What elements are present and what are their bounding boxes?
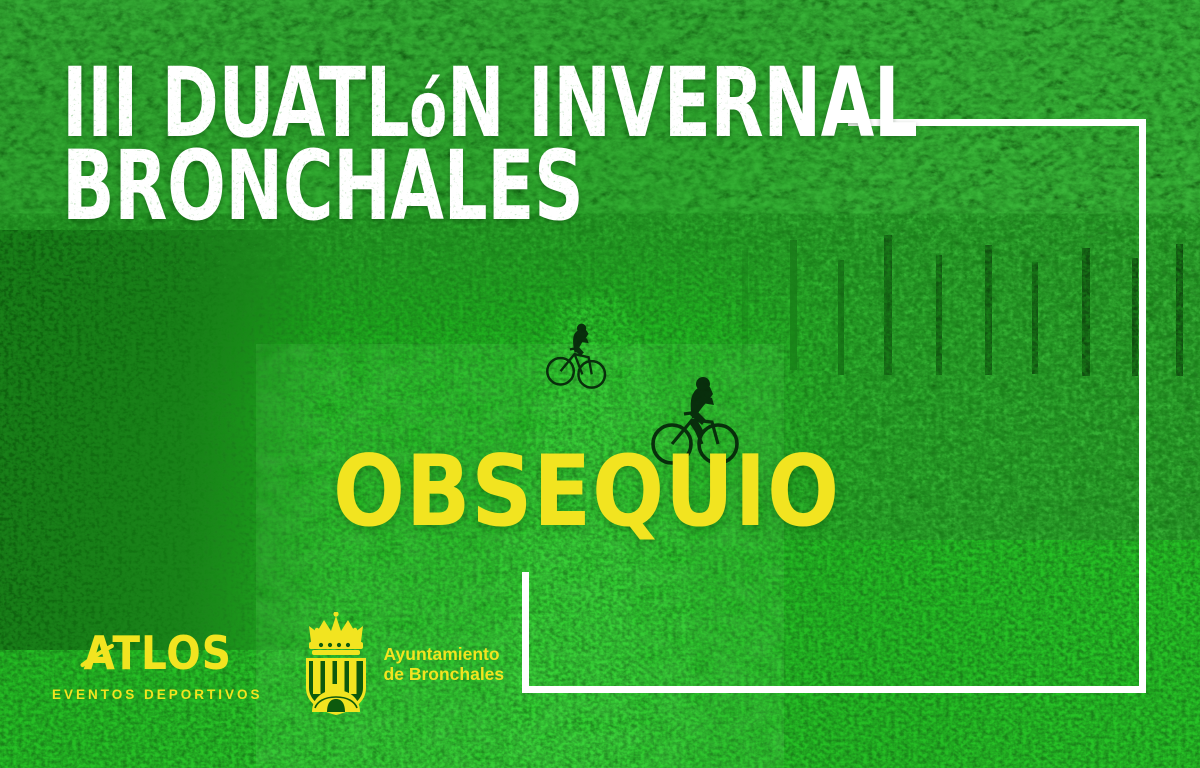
atlos-tagline: EVENTOS DEPORTIVOS [52,687,263,702]
atlos-wordmark-container: ATLOS [83,630,231,676]
coat-of-arms-icon [297,612,375,716]
atlos-logo: ATLOS EVENTOS DEPORTIVOS [52,608,263,702]
ayuntamiento-line-2: de Bronchales [384,664,505,684]
atlos-swoosh-icon [80,639,113,669]
ayuntamiento-line-1: Ayuntamiento [384,644,505,664]
frame-right-edge [1139,119,1146,693]
event-poster: III DUATLóN INVERNAL BRONCHALES OBSEQUIO… [0,0,1200,768]
frame-bottom-edge [522,686,1146,693]
sponsor-logos: ATLOS EVENTOS DEPORTIVOS [52,608,504,716]
frame-top-edge [848,119,1146,126]
frame-left-edge [522,572,529,693]
obsequio-label: OBSEQUIO [333,443,840,541]
ayuntamiento-name: Ayuntamiento de Bronchales [384,644,505,685]
ayuntamiento-logo: Ayuntamiento de Bronchales [297,608,505,716]
